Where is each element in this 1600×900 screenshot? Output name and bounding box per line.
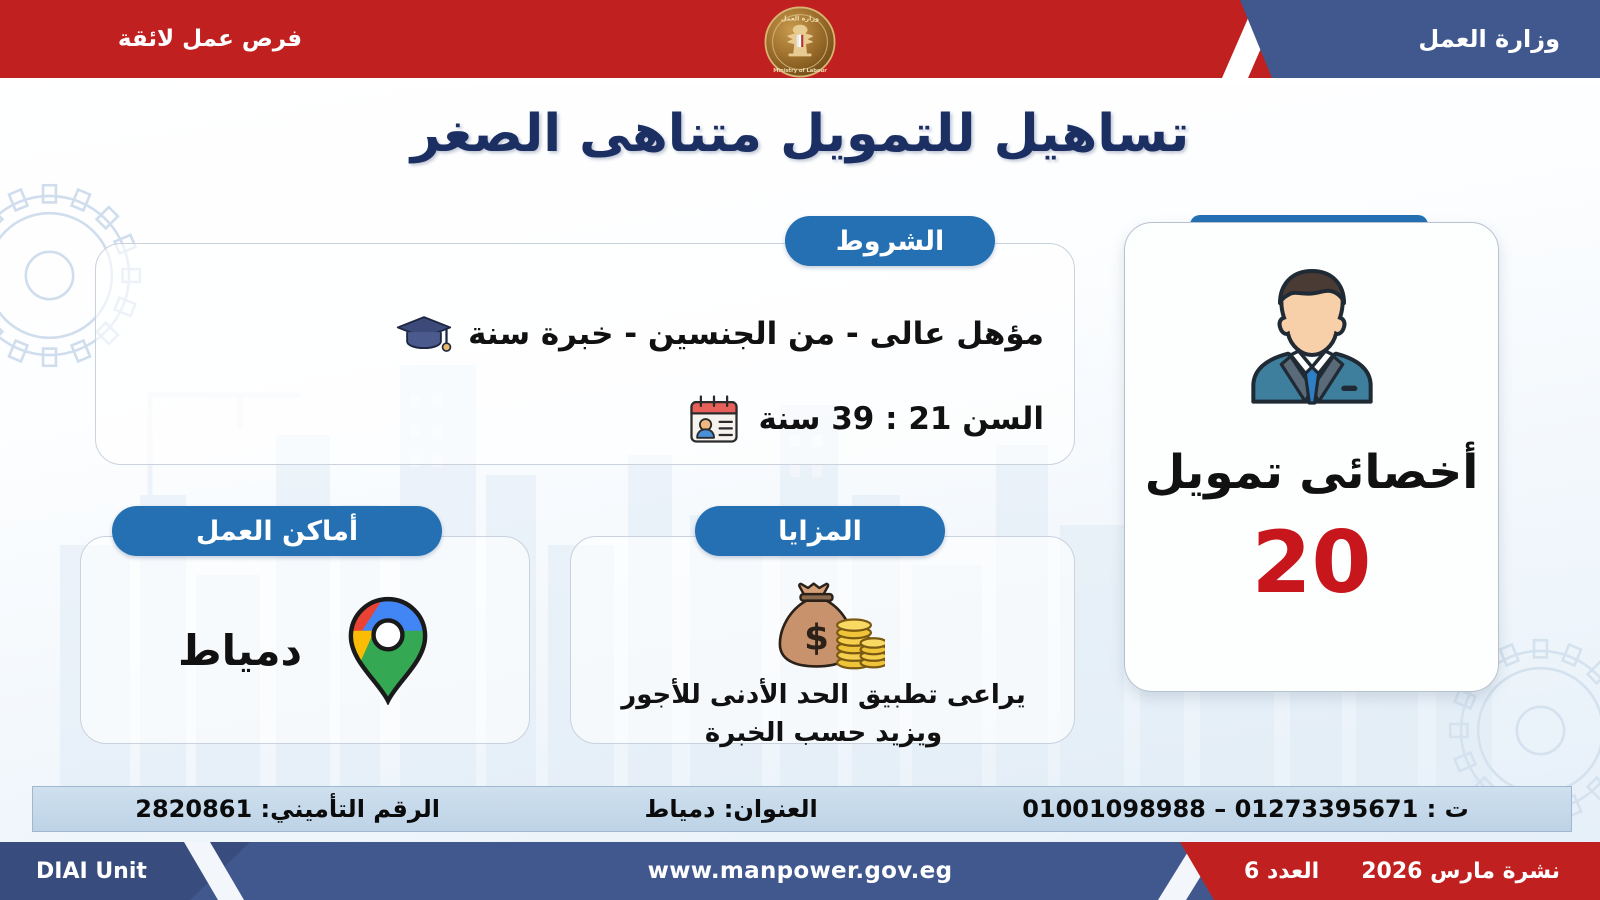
- footer-unit: DIAI Unit: [36, 842, 147, 900]
- locations-card: دمياط: [80, 536, 530, 744]
- benefit-line-1: يراعى تطبيق الحد الأدنى للأجور: [621, 679, 1026, 713]
- location-name: دمياط: [178, 626, 302, 675]
- header-left-banner-text: فرص عمل لائقة: [60, 0, 360, 78]
- contact-insurance-number: الرقم التأميني: 2820861: [135, 795, 440, 823]
- condition-row-qualification: مؤهل عالى - من الجنسين - خبرة سنة: [394, 304, 1044, 364]
- conditions-card: مؤهل عالى - من الجنسين - خبرة سنة السن 2…: [95, 243, 1075, 465]
- id-calendar-icon: [684, 389, 744, 449]
- job-vacancy-count: 20: [1252, 520, 1372, 606]
- seal-top-text: وزارة العمل: [781, 14, 819, 22]
- header-right-banner-text: وزارة العمل: [1418, 0, 1560, 78]
- svg-text:$: $: [804, 618, 829, 659]
- poster-root: فرص عمل لائقة وزارة العمل: [0, 0, 1600, 900]
- page-footer: www.manpower.gov.eg نشرة مارس 2026 العدد…: [0, 842, 1600, 900]
- contact-phones: ت : 01273395671 – 01001098988: [1022, 795, 1469, 823]
- benefit-line-2: ويزيد حسب الخبرة: [705, 717, 942, 751]
- page-title: تساهيل للتمويل متناهى الصغر: [0, 104, 1600, 164]
- footer-bulletin: نشرة مارس 2026: [1361, 859, 1560, 884]
- job-title: أخصائى تمويل: [1145, 445, 1479, 500]
- seal-bottom-text: Ministry of Labour: [773, 68, 827, 74]
- ministry-seal-icon: وزارة العمل Ministry of Labour: [764, 6, 836, 78]
- businessman-avatar-icon: [1232, 255, 1392, 415]
- benefits-body: $ يراعى تطبيق الحد الأدنى للأجور ويزيد ح…: [571, 579, 1076, 751]
- conditions-badge: الشروط: [785, 216, 995, 266]
- footer-issue: العدد 6: [1244, 859, 1319, 884]
- condition-row-age: السن 21 : 39 سنة: [684, 389, 1044, 449]
- benefits-card: $ يراعى تطبيق الحد الأدنى للأجور ويزيد ح…: [570, 536, 1075, 744]
- condition-qualification-text: مؤهل عالى - من الجنسين - خبرة سنة: [468, 316, 1044, 352]
- condition-age-text: السن 21 : 39 سنة: [758, 401, 1044, 437]
- page-header: فرص عمل لائقة وزارة العمل: [0, 0, 1600, 82]
- contact-address: العنوان: دمياط: [644, 795, 817, 823]
- locations-body: دمياط: [81, 595, 531, 705]
- job-card: أخصائى تمويل 20: [1124, 222, 1499, 692]
- map-pin-icon: [342, 595, 434, 705]
- header-bottom-edge: [0, 78, 1600, 84]
- graduation-cap-icon: [394, 304, 454, 364]
- locations-badge: أماكن العمل: [112, 506, 442, 556]
- footer-bulletin-group: نشرة مارس 2026 العدد 6: [1244, 842, 1560, 900]
- benefits-badge: المزايا: [695, 506, 945, 556]
- money-bag-coins-icon: $: [763, 579, 885, 675]
- contact-info-bar: ت : 01273395671 – 01001098988 العنوان: د…: [32, 786, 1572, 832]
